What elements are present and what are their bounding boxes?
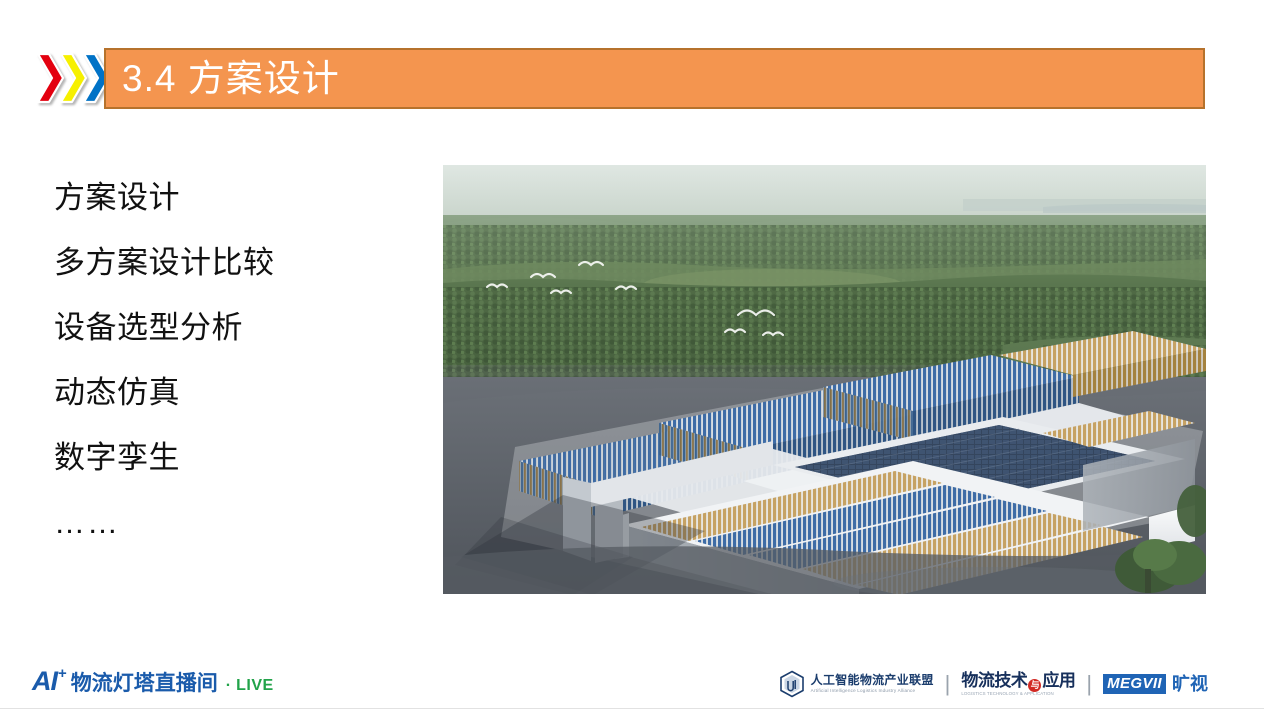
list-item-ellipsis: …… (54, 507, 394, 538)
chevron-group (36, 52, 110, 104)
megvii-latin-mark: MEGVII (1103, 674, 1166, 694)
slide-canvas: 3.4 方案设计 方案设计 多方案设计比较 设备选型分析 动态仿真 数字孪生 …… (0, 0, 1264, 716)
live-brand-logo: AI + 物流灯塔直播间 · LIVE (32, 668, 274, 695)
magazine-name-part1: 物流技术 (961, 671, 1027, 690)
brand-ai-text: AI (32, 668, 57, 695)
magazine-name-circle-char: 与 (1028, 679, 1041, 692)
alliance-hexagon-icon (779, 670, 805, 698)
partner-logo-megvii: MEGVII 旷视 (1103, 674, 1208, 694)
page-title: 3.4 方案设计 (122, 59, 340, 96)
slide-footer: AI + 物流灯塔直播间 · LIVE 人工智能物流产业联盟 Artif (0, 660, 1264, 716)
list-item: 动态仿真 (54, 377, 394, 408)
logo-separator: | (1086, 673, 1092, 695)
alliance-name-en: Artificial Intelligence Logistics Indust… (811, 688, 934, 694)
brand-chinese-text: 物流灯塔直播间 (71, 673, 218, 694)
section-title-bar: 3.4 方案设计 (104, 48, 1205, 109)
logo-separator: | (945, 673, 951, 695)
magazine-name-en: LOGISTICS TECHNOLOGY & APPLICATION (961, 691, 1075, 696)
list-item: 多方案设计比较 (54, 247, 394, 278)
megvii-name-cn: 旷视 (1172, 675, 1208, 693)
alliance-name-cn: 人工智能物流产业联盟 (811, 674, 934, 688)
list-item: 数字孪生 (54, 442, 394, 473)
slide-header: 3.4 方案设计 (0, 0, 1264, 130)
brand-dot-separator: · (226, 678, 231, 694)
magazine-name-cn: 物流技术与应用 (961, 672, 1075, 691)
warehouse-aerial-render (443, 165, 1206, 594)
list-item: 设备选型分析 (54, 312, 394, 343)
list-item: 方案设计 (54, 182, 394, 213)
brand-plus-text: + (58, 666, 67, 681)
footer-divider (0, 708, 1264, 709)
partner-logo-group: 人工智能物流产业联盟 Artificial Intelligence Logis… (779, 667, 1208, 701)
partner-logo-magazine: 物流技术与应用 LOGISTICS TECHNOLOGY & APPLICATI… (961, 672, 1075, 696)
partner-logo-alliance: 人工智能物流产业联盟 Artificial Intelligence Logis… (779, 670, 934, 698)
bullet-list: 方案设计 多方案设计比较 设备选型分析 动态仿真 数字孪生 …… (54, 182, 394, 538)
live-badge: LIVE (236, 678, 274, 694)
magazine-name-part2: 应用 (1042, 671, 1075, 690)
